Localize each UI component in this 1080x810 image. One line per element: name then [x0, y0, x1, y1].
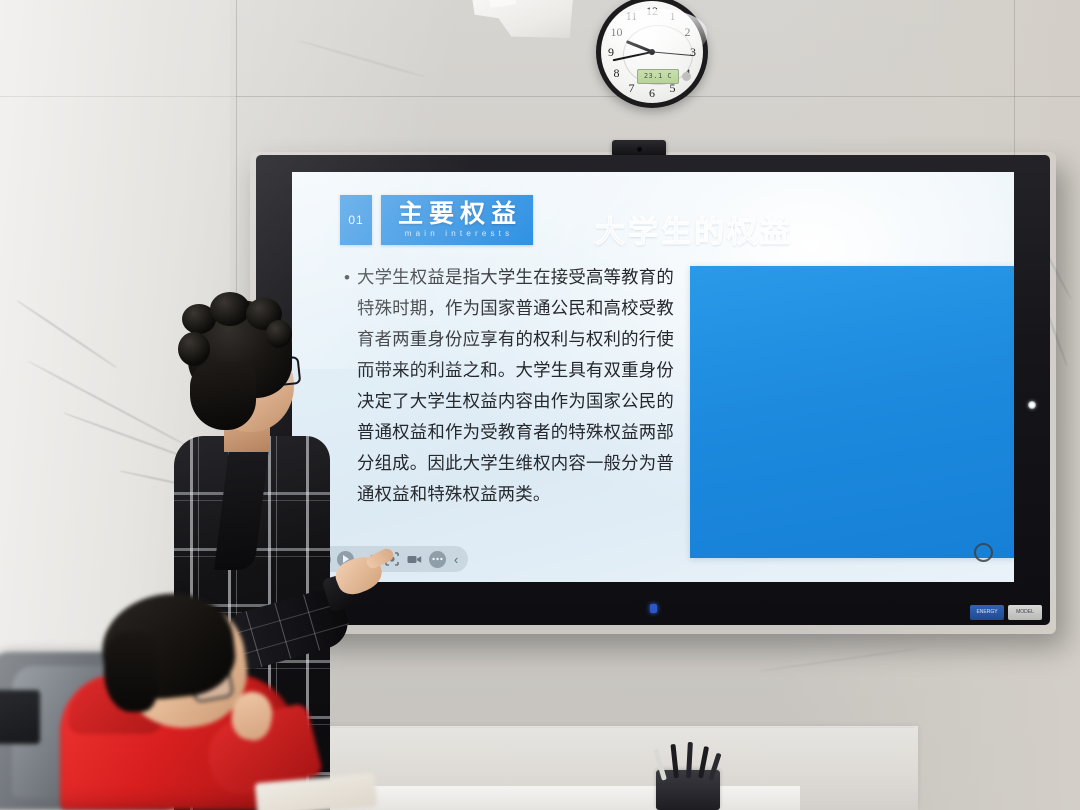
presenter-hair-curl — [266, 320, 292, 348]
clock-numeral: 8 — [608, 66, 624, 80]
badge-title-cn: 主要权益 — [392, 201, 522, 228]
badge-title-en: main interests — [401, 228, 514, 239]
slide-ghost-title: 大学生的权益 — [595, 207, 793, 251]
more-options-button[interactable] — [429, 551, 446, 568]
slide-body: • 大学生权益是指大学生在接受高等教育的特殊时期，作为国家普通公民和高校受教育者… — [344, 262, 674, 510]
pen-holder — [656, 770, 720, 810]
badge-title-box: 主要权益 main interests — [381, 195, 533, 245]
clock-lcd-display: 23.1 C — [637, 69, 679, 84]
clock-glass-glare — [607, 9, 707, 55]
presenter-hair-curl — [178, 332, 210, 366]
presenter-hair-nape — [190, 362, 256, 430]
ir-touch-sensor-right — [1028, 401, 1036, 409]
presentation-slide[interactable]: 01 主要权益 main interests 大学生的权益 • 大学生权益是指大… — [292, 172, 1014, 582]
slide-body-text: 大学生权益是指大学生在接受高等教育的特殊时期，作为国家普通公民和高校受教育者两重… — [357, 262, 674, 510]
screen-record-button[interactable] — [406, 551, 423, 568]
clock-numeral: 6 — [644, 86, 660, 100]
webcam-lens-icon — [636, 146, 643, 153]
presenter-hair-curl — [210, 292, 250, 326]
clock-face: 121234567891011 23.1 C — [601, 1, 703, 103]
wall-clock: 121234567891011 23.1 C — [596, 0, 708, 108]
badge-number: 01 — [340, 195, 372, 245]
model-sticker: MODEL — [1008, 605, 1042, 620]
section-badge: 01 主要权益 main interests — [340, 195, 533, 245]
conference-room-photo: 121234567891011 23.1 C ENERGY MODEL 01 — [0, 0, 1080, 810]
slide-image-placeholder — [690, 266, 1014, 558]
wall-panel-seam — [1014, 0, 1015, 160]
chair-armrest — [0, 690, 40, 744]
power-led-indicator — [650, 604, 657, 613]
collapse-toolbar-chevron-icon[interactable]: ‹ — [452, 553, 458, 566]
touch-cursor-ring — [974, 543, 993, 562]
pen — [686, 742, 693, 778]
display-screen[interactable]: 01 主要权益 main interests 大学生的权益 • 大学生权益是指大… — [292, 172, 1014, 582]
clock-knob — [682, 72, 691, 81]
attendee-hair-side — [104, 632, 158, 712]
wall-panel-seam — [0, 96, 236, 97]
energy-sticker: ENERGY — [970, 605, 1004, 620]
seated-attendee — [60, 596, 310, 810]
